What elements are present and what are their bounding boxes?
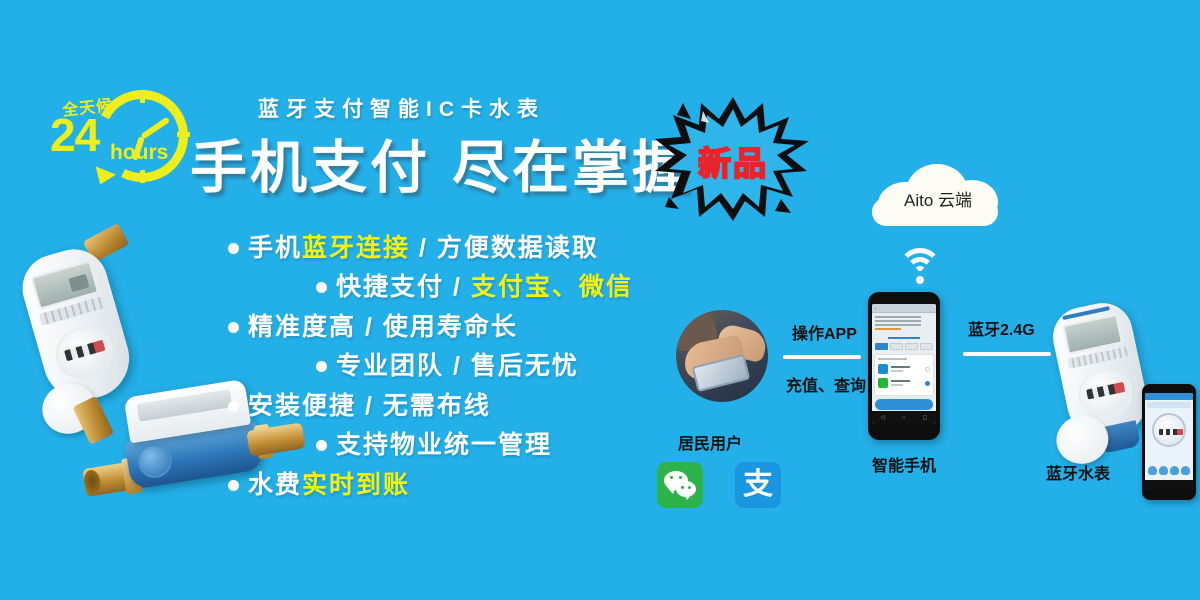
bullet-dot-icon [316, 440, 327, 451]
list-item: 专业团队 / 售后无忧 [316, 354, 698, 379]
link-label-recharge-query: 充值、查询 [786, 372, 866, 396]
phone-confirm-button[interactable] [875, 399, 933, 410]
resident-user-label: 居民用户 [678, 430, 742, 454]
meter-app-buttons[interactable] [1148, 466, 1190, 475]
smartphone-label: 智能手机 [872, 452, 936, 476]
alipay-icon [878, 364, 888, 374]
badge-number: 24 [50, 112, 99, 158]
feature-text-5: 支持物业统一管理 [336, 433, 552, 458]
meter-app-subheader [1147, 402, 1191, 408]
list-item: 精准度高 / 使用寿命长 [228, 315, 698, 340]
meter-reading-gauge [1152, 413, 1186, 447]
phone-screen: ‹ ◁○◻ [872, 304, 936, 424]
banner-subtitle: 蓝牙支付智能IC卡水表 [258, 93, 545, 123]
feature-text-0: 手机蓝牙连接 / 方便数据读取 [248, 236, 599, 261]
link-label-bluetooth: 蓝牙2.4G [968, 316, 1035, 340]
wechat-pay-icon[interactable] [657, 462, 703, 508]
bluetooth-meter-label: 蓝牙水表 [1046, 460, 1110, 484]
wechat-icon [878, 378, 888, 388]
feature-text-6: 水费实时到账 [248, 473, 410, 498]
list-item: 水费实时到账 [228, 473, 698, 498]
bullet-dot-icon [228, 480, 239, 491]
feature-text-4: 安装便捷 / 无需布线 [248, 394, 491, 419]
phone-info-block [872, 313, 936, 335]
banner-title: 手机支付尽在掌握 [190, 122, 692, 204]
cloud-label: Aito 云端 [868, 186, 1008, 211]
list-item: 快捷支付 / 支付宝、微信 [316, 275, 698, 300]
24-hours-badge: 全天候 24 hours [48, 84, 188, 196]
clock-tick-top-icon [140, 90, 145, 103]
list-item: 手机蓝牙连接 / 方便数据读取 [228, 236, 698, 261]
banner-title-part1: 手机支付 [190, 136, 430, 200]
clock-tick-bottom-icon [140, 170, 145, 183]
feature-text-3: 专业团队 / 售后无忧 [336, 354, 579, 379]
banner-canvas: 全天候 24 hours 蓝牙支付智能IC卡水表 手机支付尽在掌握 新品 [0, 0, 1200, 600]
feature-list: 手机蓝牙连接 / 方便数据读取 快捷支付 / 支付宝、微信 精准度高 / 使用寿… [228, 236, 698, 498]
new-product-badge: 新品 [653, 93, 813, 225]
new-product-label: 新品 [653, 137, 813, 185]
bullet-dot-icon [316, 361, 327, 372]
wifi-icon [898, 248, 942, 282]
phone-payment-card [875, 355, 933, 395]
bullet-dot-icon [228, 243, 239, 254]
resident-user-photo [676, 310, 768, 402]
list-item: 安装便捷 / 无需布线 [228, 394, 698, 419]
meter-app-nav [1145, 480, 1193, 489]
phone-topbar: ‹ [872, 304, 936, 313]
feature-text-2: 精准度高 / 使用寿命长 [248, 315, 518, 340]
phone-tab-chips [872, 341, 936, 352]
meter-app-header [1145, 393, 1193, 400]
meter-label-plate [137, 389, 233, 421]
meter-app-screen [1145, 393, 1193, 489]
bullet-dot-icon [228, 322, 239, 333]
payment-icons: 支 [657, 462, 797, 510]
bullet-dot-icon [316, 282, 327, 293]
alipay-icon[interactable]: 支 [735, 462, 781, 508]
phone-nav-bar: ◁○◻ [872, 411, 936, 424]
link-label-operate-app: 操作APP [792, 320, 857, 344]
list-item: 支持物业统一管理 [316, 433, 698, 458]
badge-unit: hours [110, 142, 168, 163]
smartphone-device: ‹ ◁○◻ [868, 292, 940, 440]
clock-tick-right-icon [177, 132, 190, 137]
cloud-node: Aito 云端 [868, 160, 1008, 232]
meter-dial [49, 320, 119, 386]
meter-app-phone [1142, 384, 1196, 500]
feature-text-1: 快捷支付 / 支付宝、微信 [336, 275, 633, 300]
pay-option-alipay [878, 364, 930, 374]
meter-dial [1074, 365, 1137, 423]
pay-option-wechat [878, 378, 930, 388]
bullet-dot-icon [228, 401, 239, 412]
